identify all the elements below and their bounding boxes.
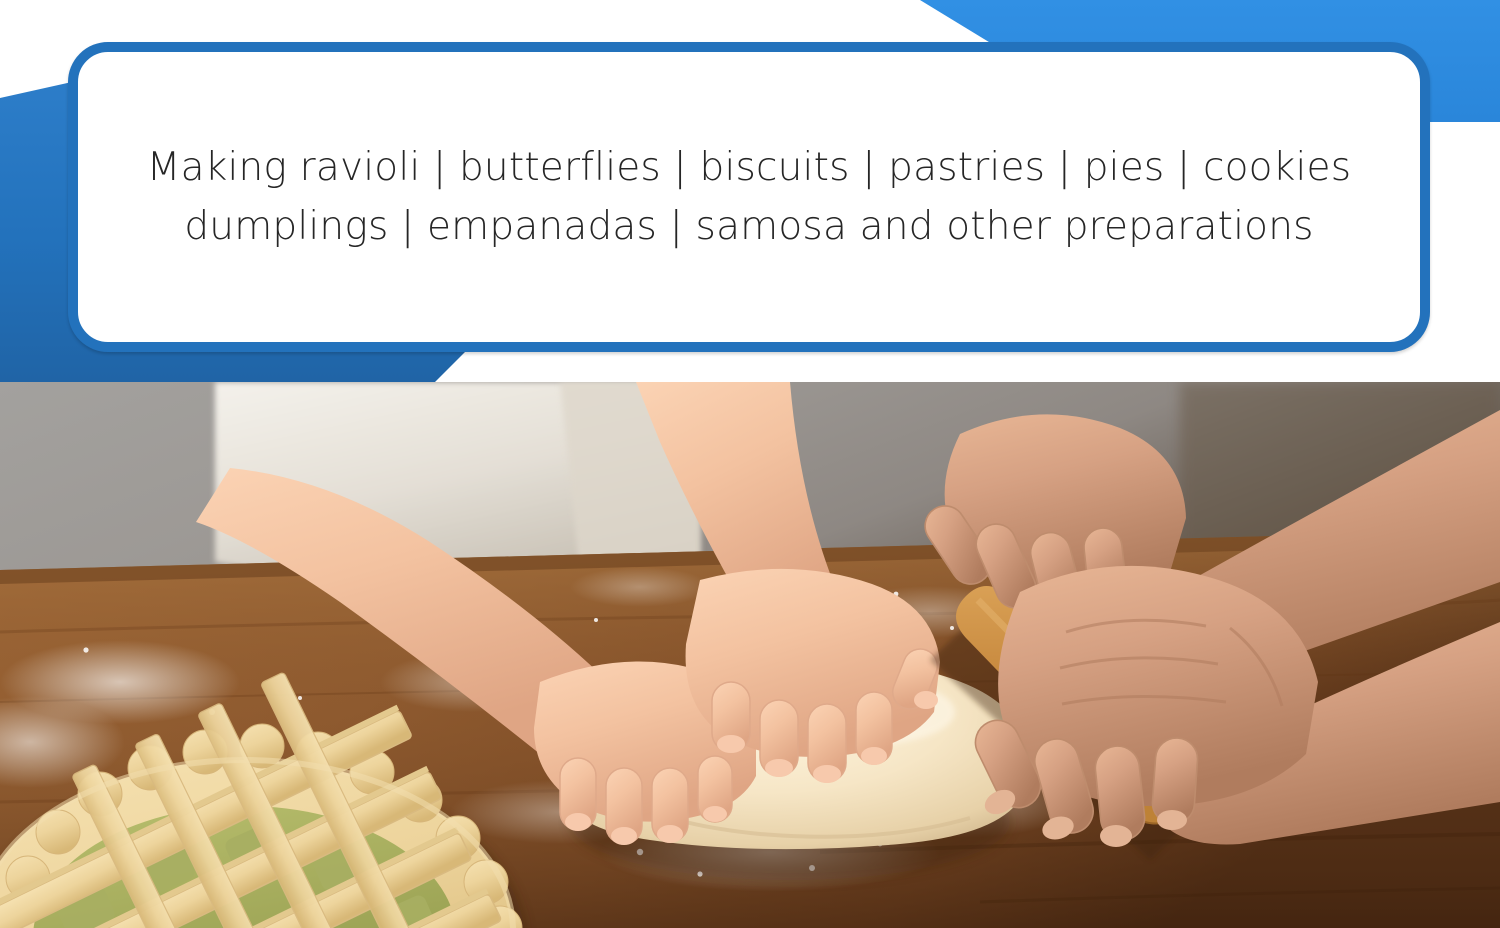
headline-text-block: Making ravioli | butterflies | biscuits … bbox=[78, 52, 1420, 342]
banner-page: Making ravioli | butterflies | biscuits … bbox=[0, 0, 1500, 928]
headline-callout-card: Making ravioli | butterflies | biscuits … bbox=[68, 42, 1430, 352]
headline-line-1: Making ravioli | butterflies | biscuits … bbox=[147, 138, 1352, 197]
baking-photograph bbox=[0, 382, 1500, 928]
headline-banner: Making ravioli | butterflies | biscuits … bbox=[0, 0, 1500, 382]
headline-line-2: dumplings | empanadas | samosa and other… bbox=[184, 197, 1313, 256]
photo-illustration bbox=[0, 382, 1500, 928]
